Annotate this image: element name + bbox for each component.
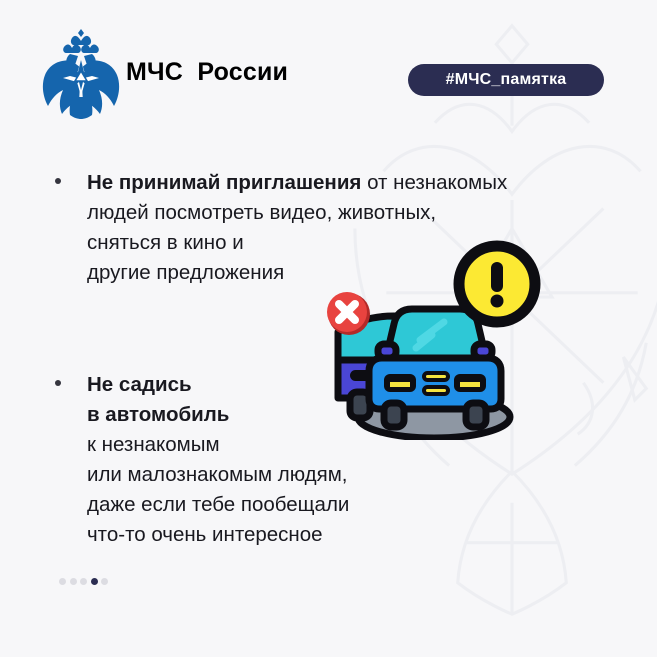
hashtag-badge[interactable]: #МЧС_памятка xyxy=(408,64,604,96)
poster-header: МЧС России #МЧС_памятка xyxy=(0,0,657,130)
bullet-2-bold: Не садись в автомобиль xyxy=(87,373,229,426)
yellow-exclamation-circle-icon xyxy=(459,246,535,322)
page-title: МЧС России xyxy=(126,58,288,87)
bullet-dot-icon xyxy=(55,178,61,184)
pagination-dot-4[interactable] xyxy=(91,578,98,585)
red-cross-circle-icon xyxy=(327,292,370,335)
infographic-poster: МЧС России #МЧС_памятка Не принимай приг… xyxy=(0,0,657,657)
bullet-1-bold: Не принимай приглашения xyxy=(87,171,361,194)
bullet-2-rest: к незнакомым или малознакомым людям, даж… xyxy=(87,433,349,546)
bullet-text-2: Не садись в автомобиль к незнакомым или … xyxy=(87,370,349,550)
pagination-dots[interactable] xyxy=(59,578,108,585)
pagination-dot-3[interactable] xyxy=(80,578,87,585)
pagination-dot-2[interactable] xyxy=(70,578,77,585)
bullet-dot-icon xyxy=(55,380,61,386)
pagination-dot-1[interactable] xyxy=(59,578,66,585)
pagination-dot-5[interactable] xyxy=(101,578,108,585)
emchs-eagle-emblem-icon xyxy=(42,27,120,119)
car-with-warning-illustration xyxy=(322,240,542,440)
